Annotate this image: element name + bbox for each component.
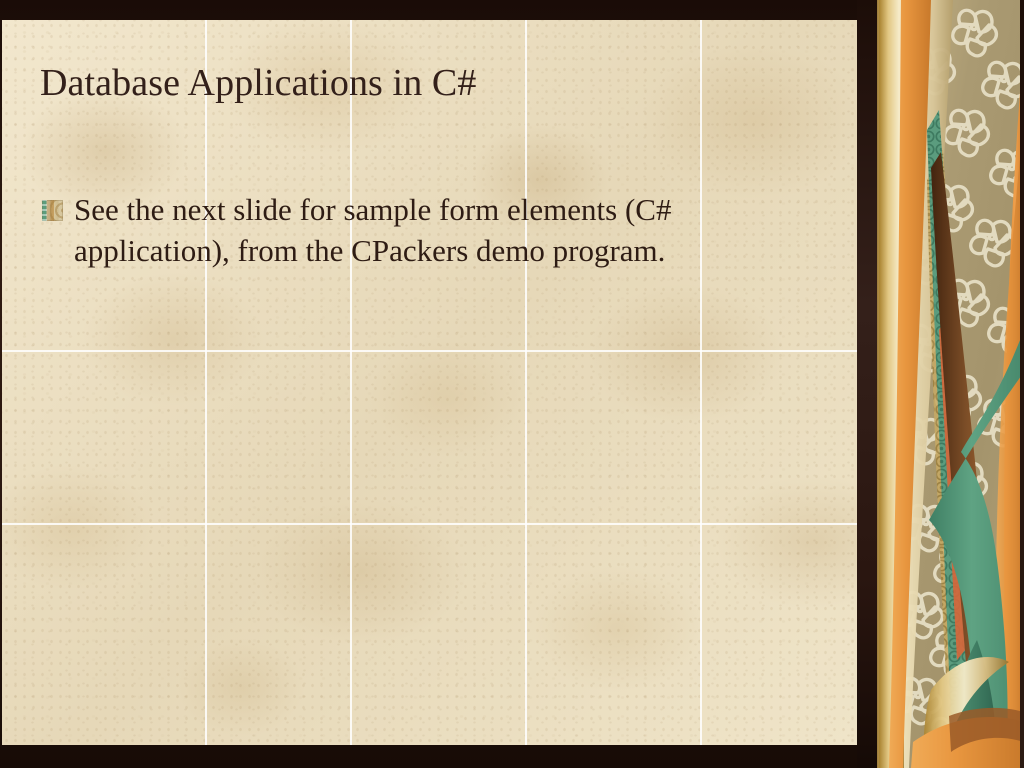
list-item: See the next slide for sample form eleme… (40, 190, 740, 272)
slide-text-content: Database Applications in C# See the next… (2, 20, 857, 745)
list-item-label: See the next slide for sample form eleme… (74, 190, 740, 272)
bullet-square-icon (42, 200, 63, 221)
slide-body: See the next slide for sample form eleme… (40, 190, 740, 272)
border-right-edge (1020, 0, 1024, 768)
ribbon-artwork-icon (857, 0, 1024, 768)
slide-content-panel: Database Applications in C# See the next… (2, 20, 857, 745)
decorative-border (857, 0, 1024, 768)
presentation-slide: Database Applications in C# See the next… (0, 0, 1024, 768)
page-title: Database Applications in C# (40, 63, 820, 105)
